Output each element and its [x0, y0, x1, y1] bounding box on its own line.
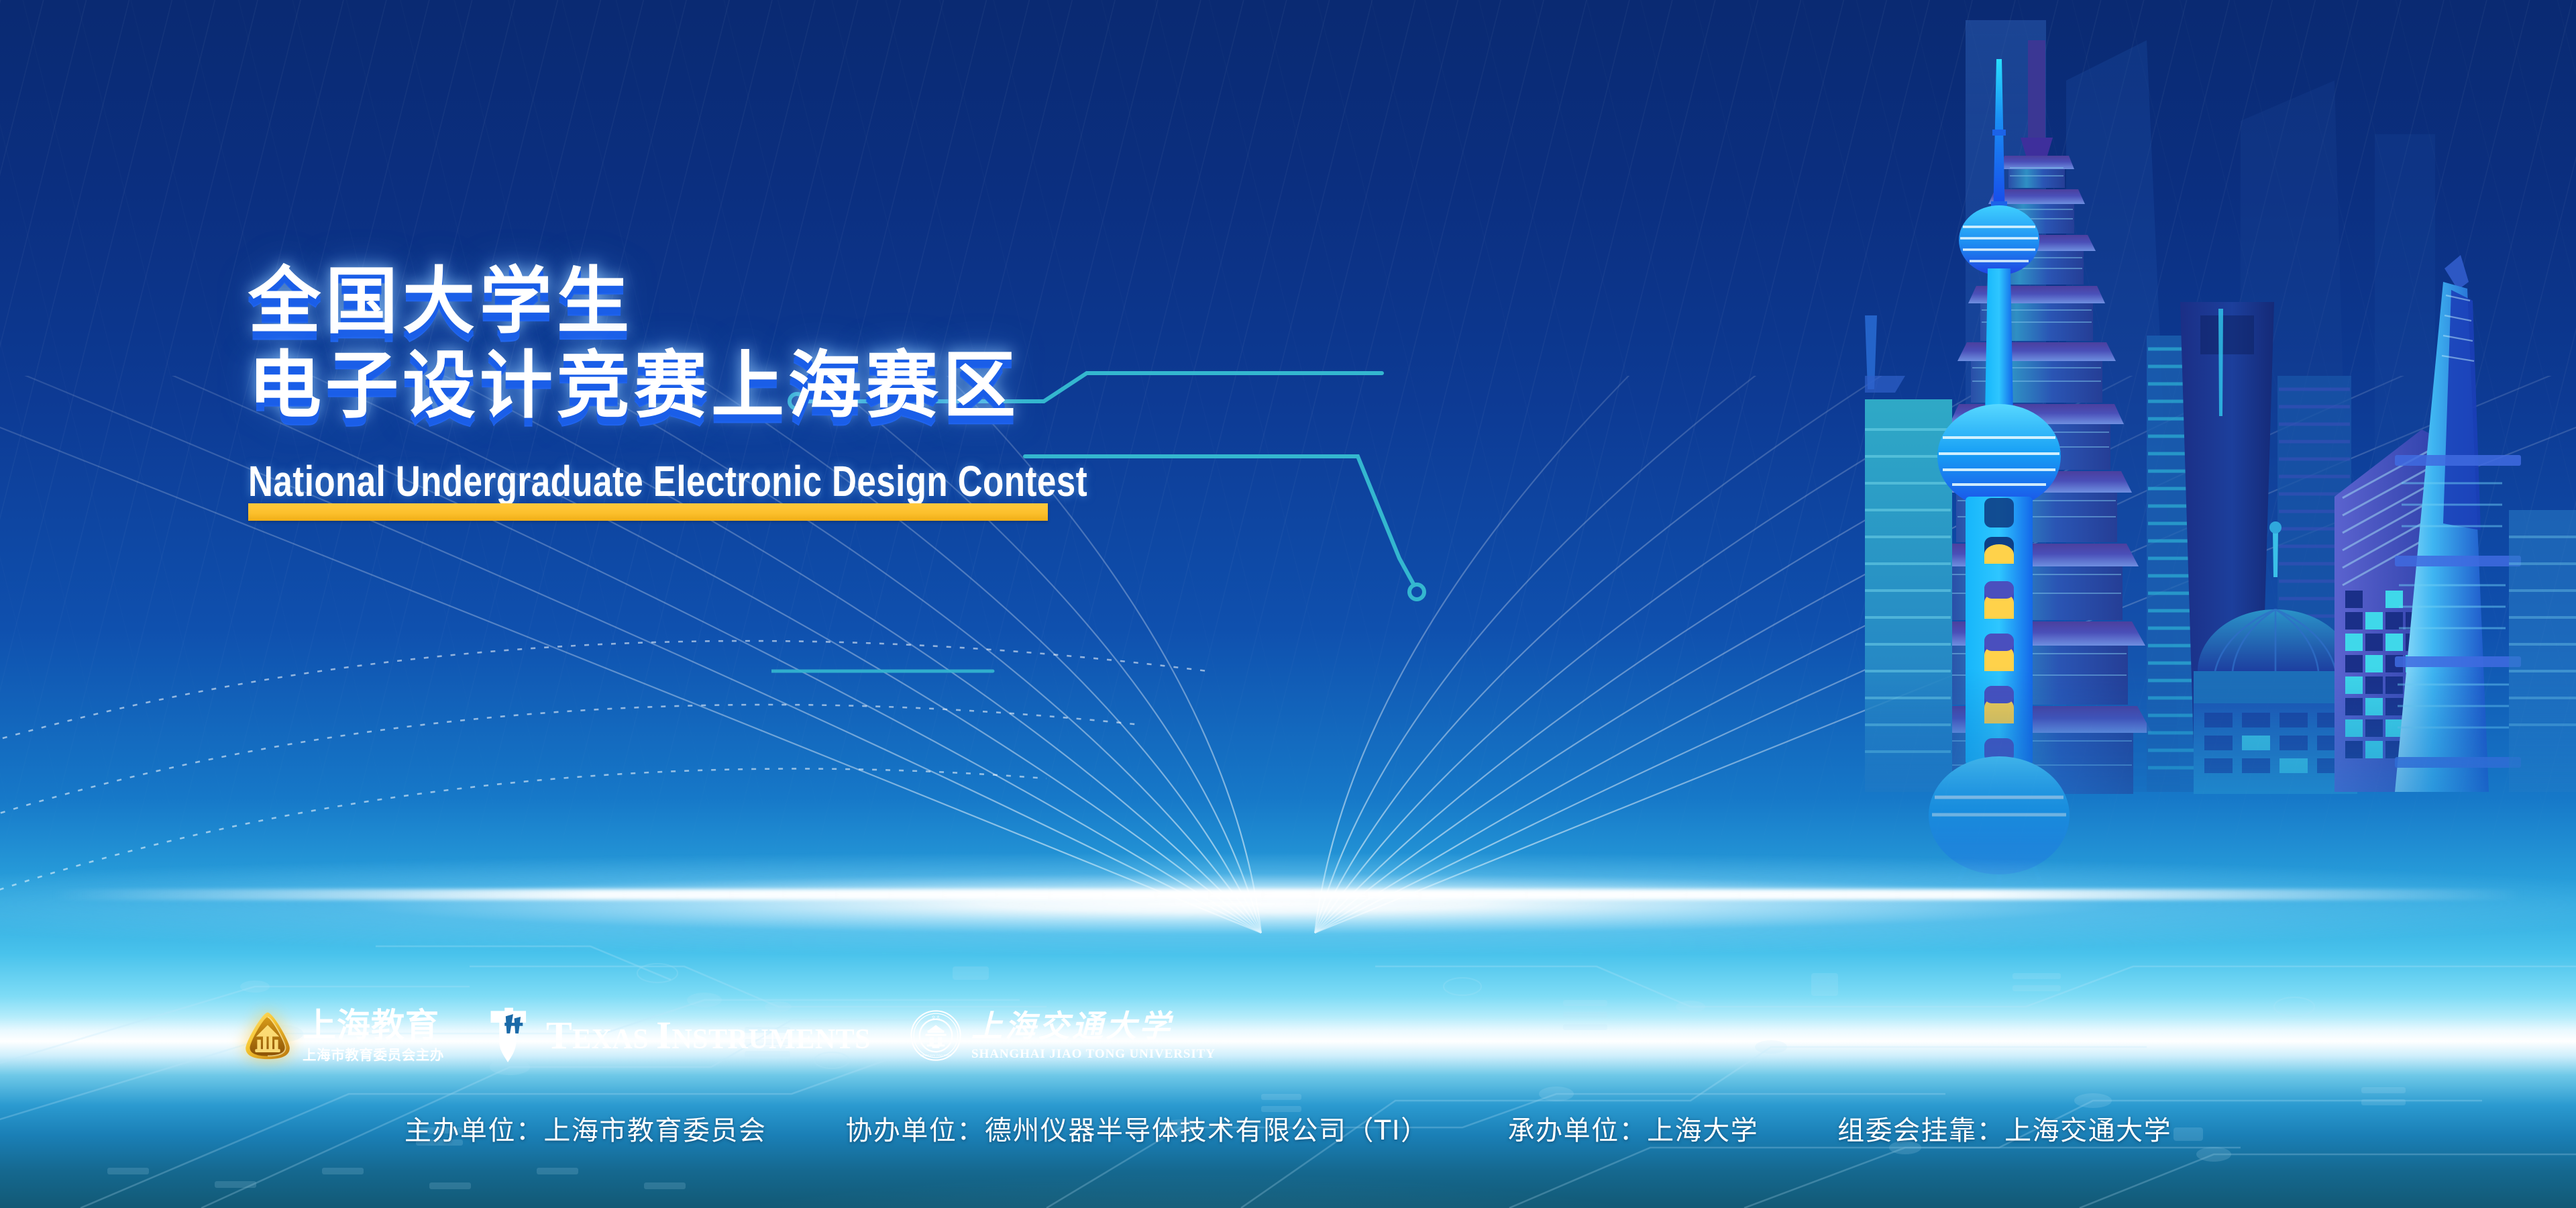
horizon-glow-core	[52, 889, 2524, 900]
title-line-1: 全国大学生	[248, 265, 1322, 339]
subtitle-wrapper: National Undergraduate Electronic Design…	[248, 456, 1201, 506]
gold-underline-bar	[248, 503, 1048, 521]
logo-texas-instruments: TEXAS INSTRUMENTS	[483, 1007, 871, 1064]
credit-host: 承办单位：上海大学	[1508, 1109, 1759, 1148]
sjtu-name-cn: 上海交通大学	[971, 1011, 1216, 1042]
subtitle-english: National Undergraduate Electronic Design…	[248, 456, 1010, 506]
ti-word-exas: EXAS	[572, 1024, 656, 1055]
shanghai-education-emblem-icon	[241, 1009, 294, 1062]
logo-shanghai-education: 上海教育 上海市教育委员会主办	[241, 1009, 444, 1062]
shanghai-skyline-illustration	[1865, 0, 2576, 926]
sjtu-name-en: SHANGHAI JIAO TONG UNIVERSITY	[971, 1048, 1216, 1060]
sponsor-logo-row: 上海教育 上海市教育委员会主办 TEXAS INSTRUMENTS	[241, 1007, 1216, 1064]
right-edge-blocks	[2509, 510, 2576, 792]
antenna-mast	[2218, 309, 2223, 416]
shanghai-education-text: 上海教育 上海市教育委员会主办	[303, 1009, 444, 1062]
title-line-2: 电子设计竞赛上海赛区	[248, 348, 1322, 423]
teal-block-building	[1865, 315, 1952, 792]
sjtu-text: 上海交通大学 SHANGHAI JIAO TONG UNIVERSITY	[971, 1011, 1216, 1060]
title-block: 全国大学生 电子设计竞赛上海赛区 National Undergraduate …	[248, 265, 1322, 506]
shanghai-education-name: 上海教育	[303, 1009, 444, 1042]
texas-instruments-wordmark: TEXAS INSTRUMENTS	[546, 1016, 871, 1055]
sjtu-seal-icon: 交 大 SHANGHAI JIAO TONG	[910, 1009, 962, 1062]
ti-word-i: I	[656, 1013, 672, 1057]
credit-co-organizer: 协办单位：德州仪器半导体技术有限公司（TI）	[845, 1109, 1428, 1148]
texas-instruments-icon	[483, 1007, 533, 1064]
event-banner: 全国大学生 电子设计竞赛上海赛区 National Undergraduate …	[0, 0, 2576, 1208]
credit-committee: 组委会挂靠：上海交通大学	[1837, 1109, 2171, 1148]
ti-word-t: T	[546, 1013, 572, 1057]
circuit-trace-pattern	[0, 926, 2576, 1208]
ti-word-nstruments: NSTRUMENTS	[672, 1024, 871, 1055]
credits-row: 主办单位：上海市教育委员会 协办单位：德州仪器半导体技术有限公司（TI） 承办单…	[0, 1109, 2576, 1148]
shanghai-education-subtitle: 上海市教育委员会主办	[303, 1048, 444, 1062]
svg-text:交 大: 交 大	[932, 1015, 941, 1020]
logo-sjtu: 交 大 SHANGHAI JIAO TONG 上海交通大学 SHANGHAI J…	[910, 1009, 1216, 1062]
svg-text:SHANGHAI JIAO TONG: SHANGHAI JIAO TONG	[920, 1054, 952, 1057]
credit-organizer: 主办单位：上海市教育委员会	[405, 1109, 767, 1148]
